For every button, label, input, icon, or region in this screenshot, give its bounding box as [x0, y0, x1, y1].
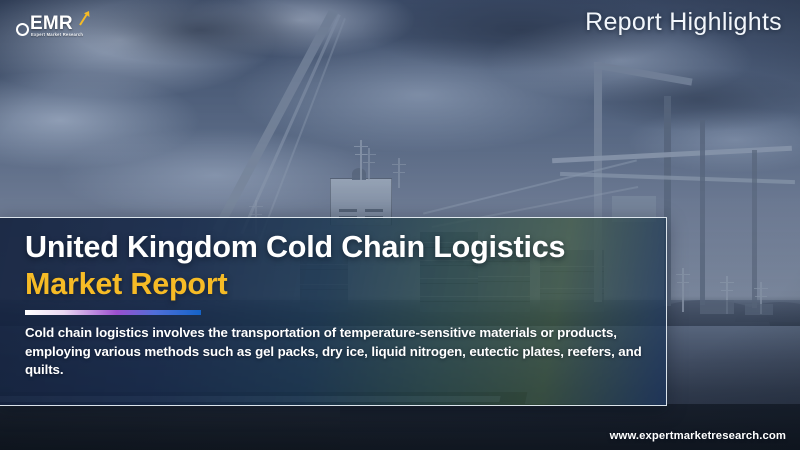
page-subtitle: Market Report: [25, 267, 656, 301]
report-highlight-banner: EMR Expert Market Research Report Highli…: [0, 0, 800, 450]
circle-icon: [16, 23, 29, 36]
report-description: Cold chain logistics involves the transp…: [25, 324, 650, 380]
gradient-divider: [25, 310, 201, 315]
banner-header: EMR Expert Market Research Report Highli…: [0, 0, 800, 46]
emr-logo[interactable]: EMR Expert Market Research: [16, 8, 104, 38]
page-title: United Kingdom Cold Chain Logistics: [25, 230, 656, 264]
panel-content: United Kingdom Cold Chain Logistics Mark…: [25, 230, 656, 380]
growth-arrow-icon: [78, 10, 90, 26]
emr-logo-wordmark: EMR: [30, 14, 73, 33]
report-highlights-label: Report Highlights: [585, 8, 782, 37]
emr-logo-tagline: Expert Market Research: [31, 32, 83, 37]
website-url[interactable]: www.expertmarketresearch.com: [610, 430, 786, 442]
report-content-panel: United Kingdom Cold Chain Logistics Mark…: [0, 217, 667, 406]
